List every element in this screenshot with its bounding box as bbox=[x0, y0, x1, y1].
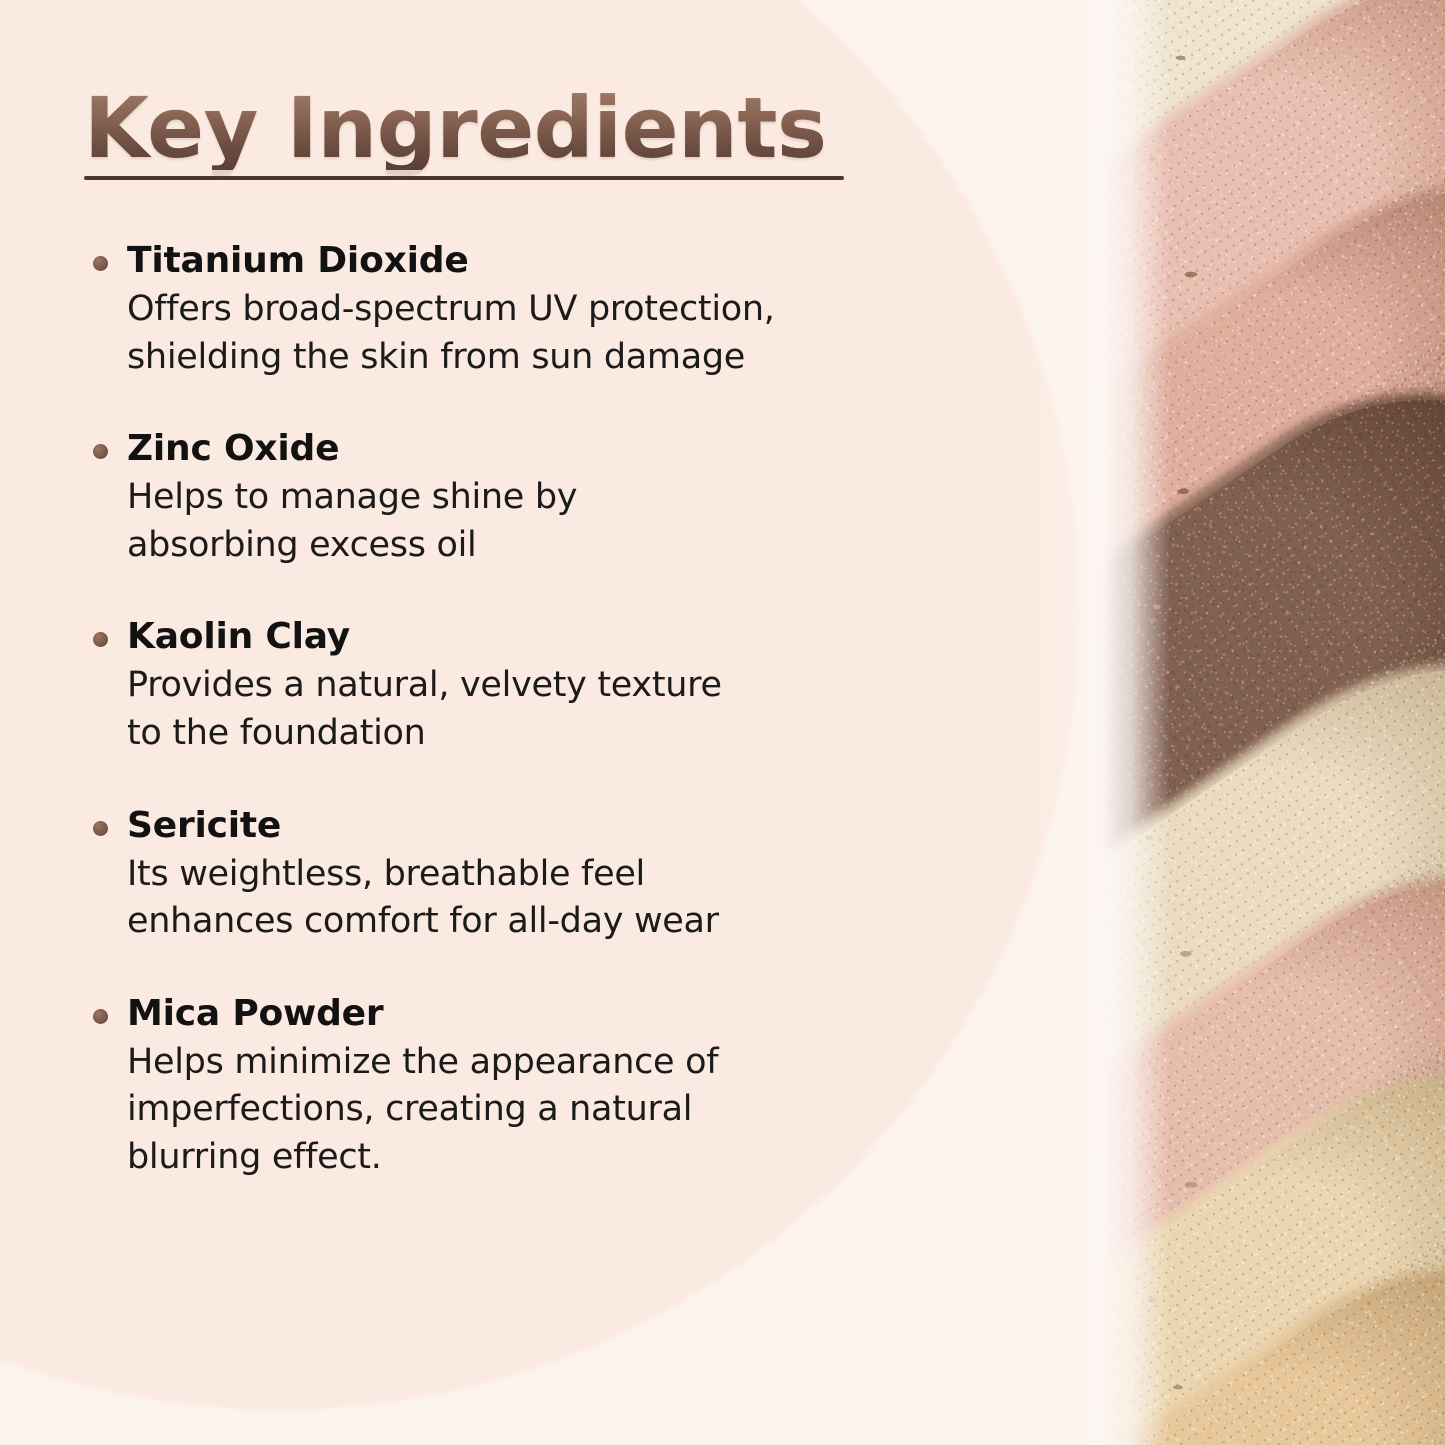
ingredient-item: Mica PowderHelps minimize the appearance… bbox=[84, 991, 964, 1182]
ingredient-item: Zinc OxideHelps to manage shine by absor… bbox=[84, 426, 964, 569]
powder-swatch-photo bbox=[1100, 0, 1445, 1445]
ingredient-item: Kaolin ClayProvides a natural, velvety t… bbox=[84, 614, 964, 757]
ingredient-list: Titanium DioxideOffers broad-spectrum UV… bbox=[84, 238, 964, 1182]
bullet-dot-icon bbox=[93, 632, 108, 647]
page-title: Key Ingredients bbox=[84, 86, 844, 170]
ingredient-item: Titanium DioxideOffers broad-spectrum UV… bbox=[84, 238, 964, 381]
bullet-dot-icon bbox=[93, 821, 108, 836]
ingredient-name: Kaolin Clay bbox=[127, 614, 964, 659]
bullet-dot-icon bbox=[93, 444, 108, 459]
ingredient-description: Its weightless, breathable feel enhances… bbox=[127, 851, 964, 946]
ingredient-name: Zinc Oxide bbox=[127, 426, 964, 471]
key-ingredients-page: Key Ingredients Titanium DioxideOffers b… bbox=[0, 0, 1445, 1445]
ingredient-description: Helps minimize the appearance of imperfe… bbox=[127, 1039, 964, 1182]
page-title-wrap: Key Ingredients bbox=[84, 86, 844, 180]
ingredient-name: Mica Powder bbox=[127, 991, 964, 1036]
ingredient-description: Offers broad-spectrum UV protection, shi… bbox=[127, 286, 964, 381]
ingredient-name: Titanium Dioxide bbox=[127, 238, 964, 283]
ingredient-description: Helps to manage shine by absorbing exces… bbox=[127, 474, 964, 569]
bullet-dot-icon bbox=[93, 1009, 108, 1024]
powder-bands-container bbox=[1100, 0, 1445, 1445]
ingredient-name: Sericite bbox=[127, 803, 964, 848]
ingredient-description: Provides a natural, velvety texture to t… bbox=[127, 662, 964, 757]
ingredient-item: SericiteIts weightless, breathable feel … bbox=[84, 803, 964, 946]
content-column: Key Ingredients Titanium DioxideOffers b… bbox=[0, 0, 1000, 1445]
bullet-dot-icon bbox=[93, 256, 108, 271]
